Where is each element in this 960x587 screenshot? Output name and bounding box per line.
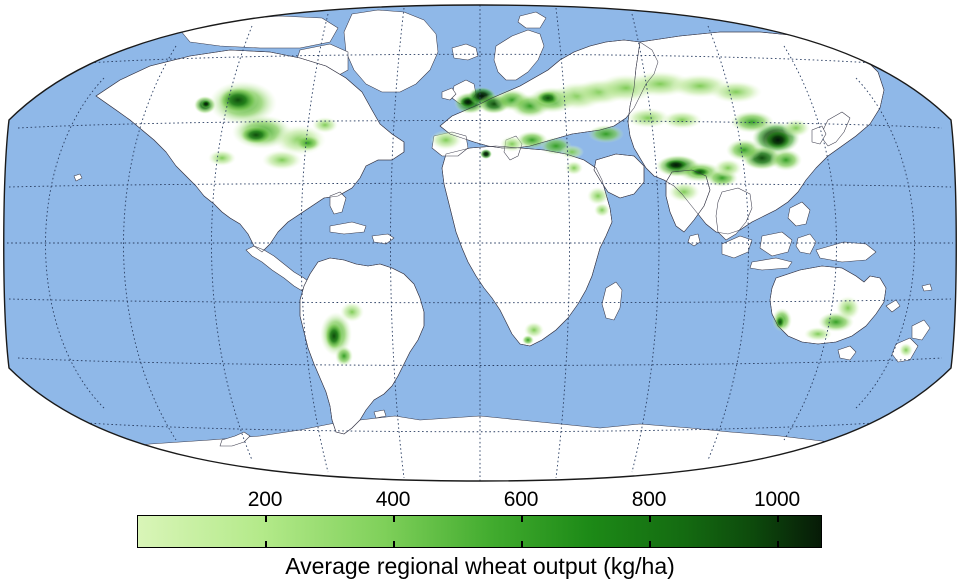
colorbar-tick-label-400: 400	[376, 488, 410, 512]
colorbar[interactable]	[137, 515, 822, 548]
colorbar-tick-labels: 200 400 600 800 1000	[0, 488, 960, 514]
world-map[interactable]	[0, 0, 960, 487]
colorbar-tick-label-1000: 1000	[754, 488, 800, 512]
wheat-output-figure: 200 400 600 800 1000 Average regional wh…	[0, 0, 960, 587]
colorbar-block: 200 400 600 800 1000 Average regional wh…	[0, 487, 960, 587]
colorbar-caption: Average regional wheat output (kg/ha)	[0, 551, 960, 581]
colorbar-tick-label-200: 200	[248, 488, 282, 512]
colorbar-gradient	[137, 515, 822, 548]
colorbar-tick-label-800: 800	[632, 488, 666, 512]
colorbar-tick-label-600: 600	[504, 488, 538, 512]
world-map-panel[interactable]	[0, 0, 960, 487]
globe-contents	[0, 0, 960, 487]
